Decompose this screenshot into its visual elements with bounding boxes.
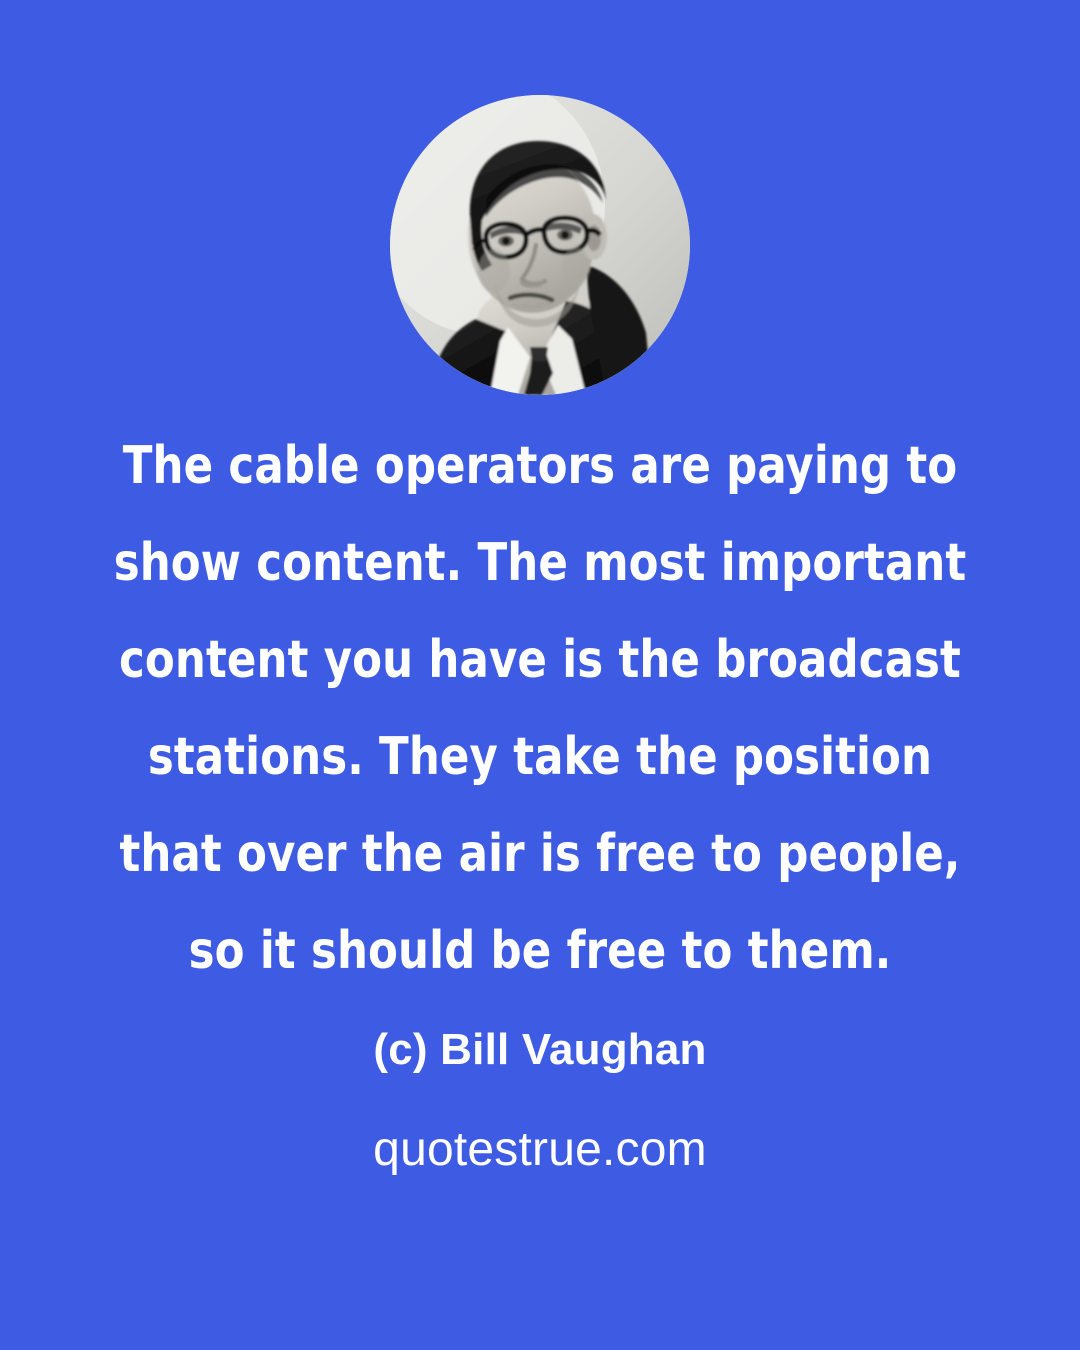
author-portrait-photo: [390, 95, 690, 395]
quote-line: The cable operators are paying to: [38, 418, 1042, 515]
quote-line: content you have is the broadcast: [38, 612, 1042, 709]
quote-line: that over the air is free to people,: [38, 806, 1042, 903]
portrait-container: [390, 95, 690, 395]
quote-card: The cable operators are paying to show c…: [0, 0, 1080, 1350]
quote-line: show content. The most important: [38, 515, 1042, 612]
quote-text: The cable operators are paying to show c…: [0, 418, 1080, 1000]
quote-line: so it should be free to them.: [38, 903, 1042, 1000]
quote-line: stations. They take the position: [38, 709, 1042, 806]
website-watermark: quotestrue.com: [0, 1122, 1080, 1177]
quote-attribution: (c) Bill Vaughan: [0, 1025, 1080, 1075]
